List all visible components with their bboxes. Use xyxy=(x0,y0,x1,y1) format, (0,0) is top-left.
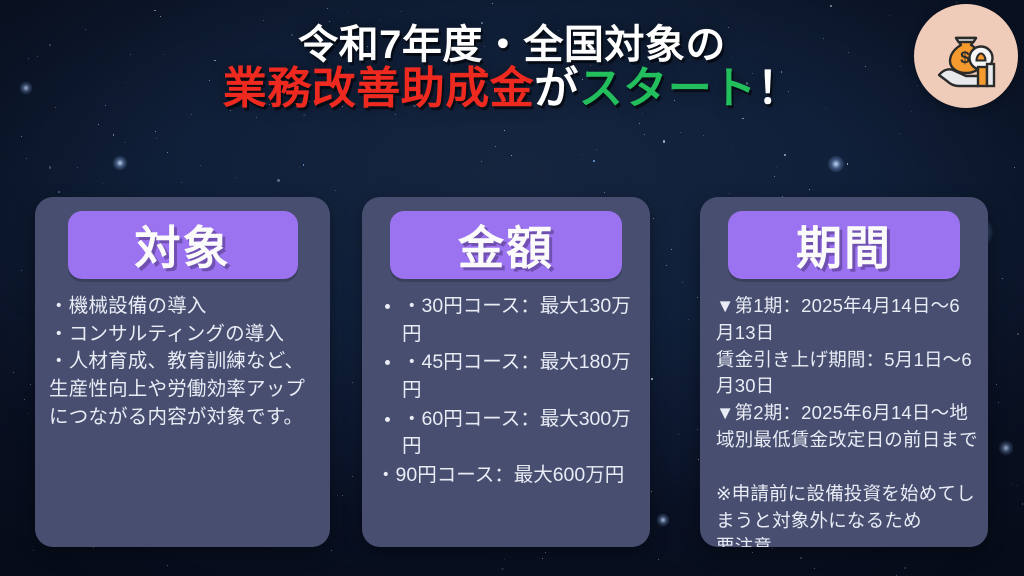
amount-course-list: ・30円コース：最大130万円・45円コース：最大180万円・60円コース：最大… xyxy=(362,293,650,461)
card-period-heading-pill: 期間 xyxy=(728,211,960,279)
title-exclamation: ！ xyxy=(757,64,802,113)
card-amount: 金額 ・30円コース：最大130万円・45円コース：最大180万円・60円コース… xyxy=(362,197,650,547)
title-particle: が xyxy=(534,64,579,113)
card-amount-heading-pill: 金額 xyxy=(390,211,622,279)
card-period-text: ▼第1期：2025年4月14日〜6月13日 賃金引き上げ期間：5月1日〜6月30… xyxy=(700,293,988,547)
card-amount-heading: 金額 xyxy=(458,212,554,278)
card-target: 対象 ・機械設備の導入 ・コンサルティングの導入 ・人材育成、教育訓練など、生産… xyxy=(35,197,330,547)
card-period: 期間 ▼第1期：2025年4月14日〜6月13日 賃金引き上げ期間：5月1日〜6… xyxy=(700,197,988,547)
card-target-heading: 対象 xyxy=(135,212,231,278)
card-period-body: ▼第1期：2025年4月14日〜6月13日 賃金引き上げ期間：5月1日〜6月30… xyxy=(700,293,988,541)
card-target-heading-pill: 対象 xyxy=(68,211,298,279)
amount-trailing-line: ・90円コース：最大600万円 xyxy=(362,462,650,490)
hand-holding-money-bag-icon: $ xyxy=(914,4,1018,108)
amount-course-item: ・60円コース：最大300万円 xyxy=(402,406,638,461)
title-highlight-green: スタート xyxy=(579,64,757,113)
card-target-text: ・機械設備の導入 ・コンサルティングの導入 ・人材育成、教育訓練など、生産性向上… xyxy=(35,293,330,431)
card-amount-body: ・30円コース：最大130万円・45円コース：最大180万円・60円コース：最大… xyxy=(362,293,650,541)
page-title: 令和7年度・全国対象の 業務改善助成金がスタート！ xyxy=(0,24,1024,113)
slide-canvas: 令和7年度・全国対象の 業務改善助成金がスタート！ $ 対象 ・機械設備の導入 … xyxy=(0,0,1024,576)
amount-course-item: ・30円コース：最大130万円 xyxy=(402,293,638,348)
card-target-body: ・機械設備の導入 ・コンサルティングの導入 ・人材育成、教育訓練など、生産性向上… xyxy=(35,293,330,541)
title-line-1: 令和7年度・全国対象の xyxy=(0,24,1024,66)
amount-course-item: ・45円コース：最大180万円 xyxy=(402,349,638,404)
title-highlight-red: 業務改善助成金 xyxy=(223,64,535,113)
card-period-heading: 期間 xyxy=(796,212,892,278)
title-line-2: 業務改善助成金がスタート！ xyxy=(0,66,1024,113)
